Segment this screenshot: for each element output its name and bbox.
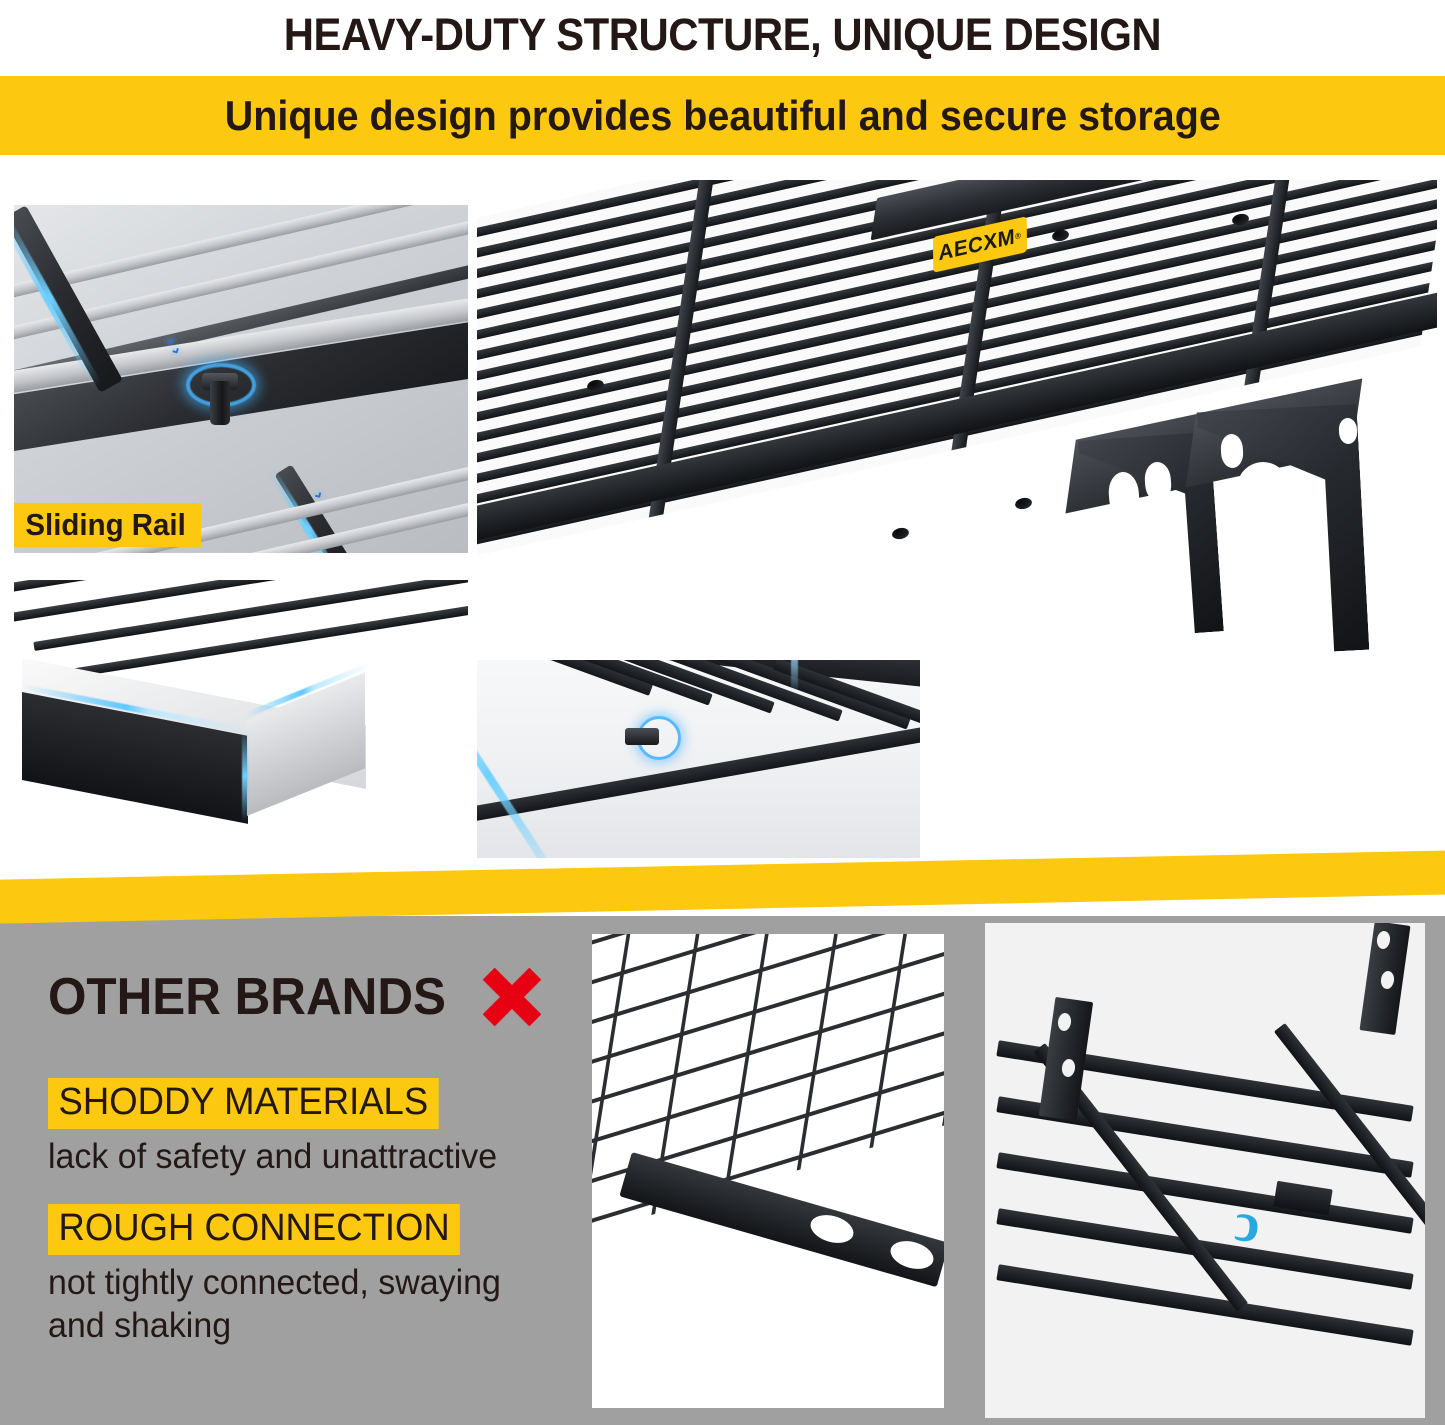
subtitle-text: Unique design provides beautiful and sec…	[225, 92, 1221, 140]
other-brands-heading-row: OTHER BRANDS	[48, 966, 543, 1028]
photo-frame-edge-detail	[14, 580, 468, 858]
page-headline: HEAVY-DUTY STRUCTURE, UNIQUE DESIGN	[51, 2, 1395, 68]
bracket-cutout	[1220, 433, 1244, 468]
hook-annotation-icon: ↄ	[1232, 1194, 1263, 1252]
photo-hero-shelf: AECXM®	[477, 180, 1437, 660]
bullet-body: lack of safety and unattractive	[48, 1136, 497, 1179]
sliding-rail-label: Sliding Rail	[14, 503, 201, 547]
subtitle-banner: Unique design provides beautiful and sec…	[0, 76, 1445, 155]
edge-glow	[242, 730, 248, 822]
bracket-cutout	[1236, 461, 1295, 592]
photo-sliding-rail-detail: ⌄⌄ ⌄⌄ Sliding Rail	[14, 205, 468, 553]
bullet-rough-connection: ROUGH CONNECTION not tightly connected, …	[48, 1204, 568, 1347]
bullet-body: not tightly connected, swaying and shaki…	[48, 1262, 552, 1347]
photo-competitor-loose-frame: ↄ	[985, 923, 1425, 1418]
bolt-shaft	[210, 381, 230, 425]
top-gallery: ⌄⌄ ⌄⌄ Sliding Rail	[0, 172, 1445, 890]
header-block: HEAVY-DUTY STRUCTURE, UNIQUE DESIGN Uniq…	[0, 0, 1445, 172]
other-brands-title: OTHER BRANDS	[48, 967, 446, 1027]
registered-mark-icon: ®	[1015, 231, 1021, 242]
bullet-tag: SHODDY MATERIALS	[48, 1078, 439, 1129]
photo-competitor-wire-mesh-rack	[592, 934, 944, 1408]
screw	[625, 728, 659, 745]
bullet-shoddy-materials: SHODDY MATERIALS lack of safety and unat…	[48, 1078, 511, 1179]
bullet-tag: ROUGH CONNECTION	[48, 1204, 460, 1255]
bracket-cutout	[1338, 418, 1357, 445]
x-mark-icon	[481, 966, 543, 1028]
comparison-section: OTHER BRANDS SHODDY MATERIALS lack of sa…	[0, 916, 1445, 1425]
